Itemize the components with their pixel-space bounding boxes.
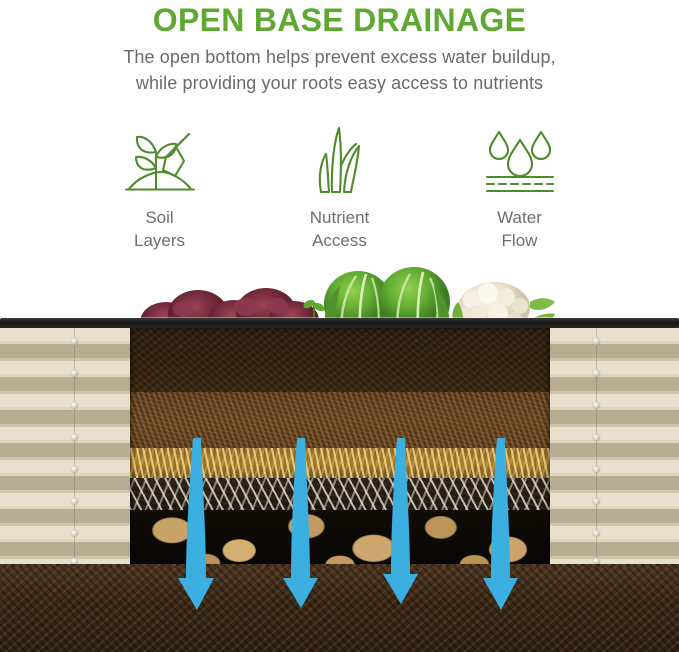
page-subtitle: The open bottom helps prevent excess wat… [40,44,640,96]
wall-screw [71,434,78,441]
header: OPEN BASE DRAINAGE The open bottom helps… [0,0,679,96]
wall-screw [593,498,600,505]
feature-water-flow: Water Flow [430,118,610,252]
feature-label-line-1: Water [430,206,610,229]
bed-wall-right [540,328,679,564]
wall-screw [71,338,78,345]
ground-soil [0,566,679,652]
wall-screw [71,466,78,473]
wall-seam [74,328,75,564]
wall-screw [593,370,600,377]
water-flow-icon [430,118,610,196]
soil-layers-icon [70,118,250,196]
raised-garden-bed-cross-section [0,262,679,652]
wall-screw [71,530,78,537]
feature-soil-layers: Soil Layers [70,118,250,252]
soil-layer-logs [130,510,550,568]
soil-layer-topsoil [130,328,550,392]
feature-nutrient-access: Nutrient Access [250,118,430,252]
feature-list: Soil Layers Nutrient Access [0,118,679,252]
nutrient-grass-icon [250,118,430,196]
feature-label-line-1: Nutrient [250,206,430,229]
wall-screw [593,434,600,441]
wall-screw [593,530,600,537]
soil-layer-twigs [130,478,550,510]
feature-label-line-2: Flow [430,229,610,252]
feature-label-line-1: Soil [70,206,250,229]
feature-water-flow-label: Water Flow [430,206,610,252]
bed-wall-left [0,328,140,564]
subtitle-line-1: The open bottom helps prevent excess wat… [40,44,640,70]
soil-layer-compost [130,392,550,448]
wall-screw [593,338,600,345]
wall-screw [71,370,78,377]
feature-soil-layers-label: Soil Layers [70,206,250,252]
feature-label-line-2: Access [250,229,430,252]
wall-screw [71,498,78,505]
subtitle-line-2: while providing your roots easy access t… [40,70,640,96]
feature-label-line-2: Layers [70,229,250,252]
page-title: OPEN BASE DRAINAGE [0,2,679,38]
soil-layer-straw [130,448,550,478]
feature-nutrient-access-label: Nutrient Access [250,206,430,252]
soil-cross-section [130,328,550,568]
wall-screw [71,402,78,409]
wall-seam [596,328,597,564]
wall-screw [593,466,600,473]
wall-screw [593,402,600,409]
